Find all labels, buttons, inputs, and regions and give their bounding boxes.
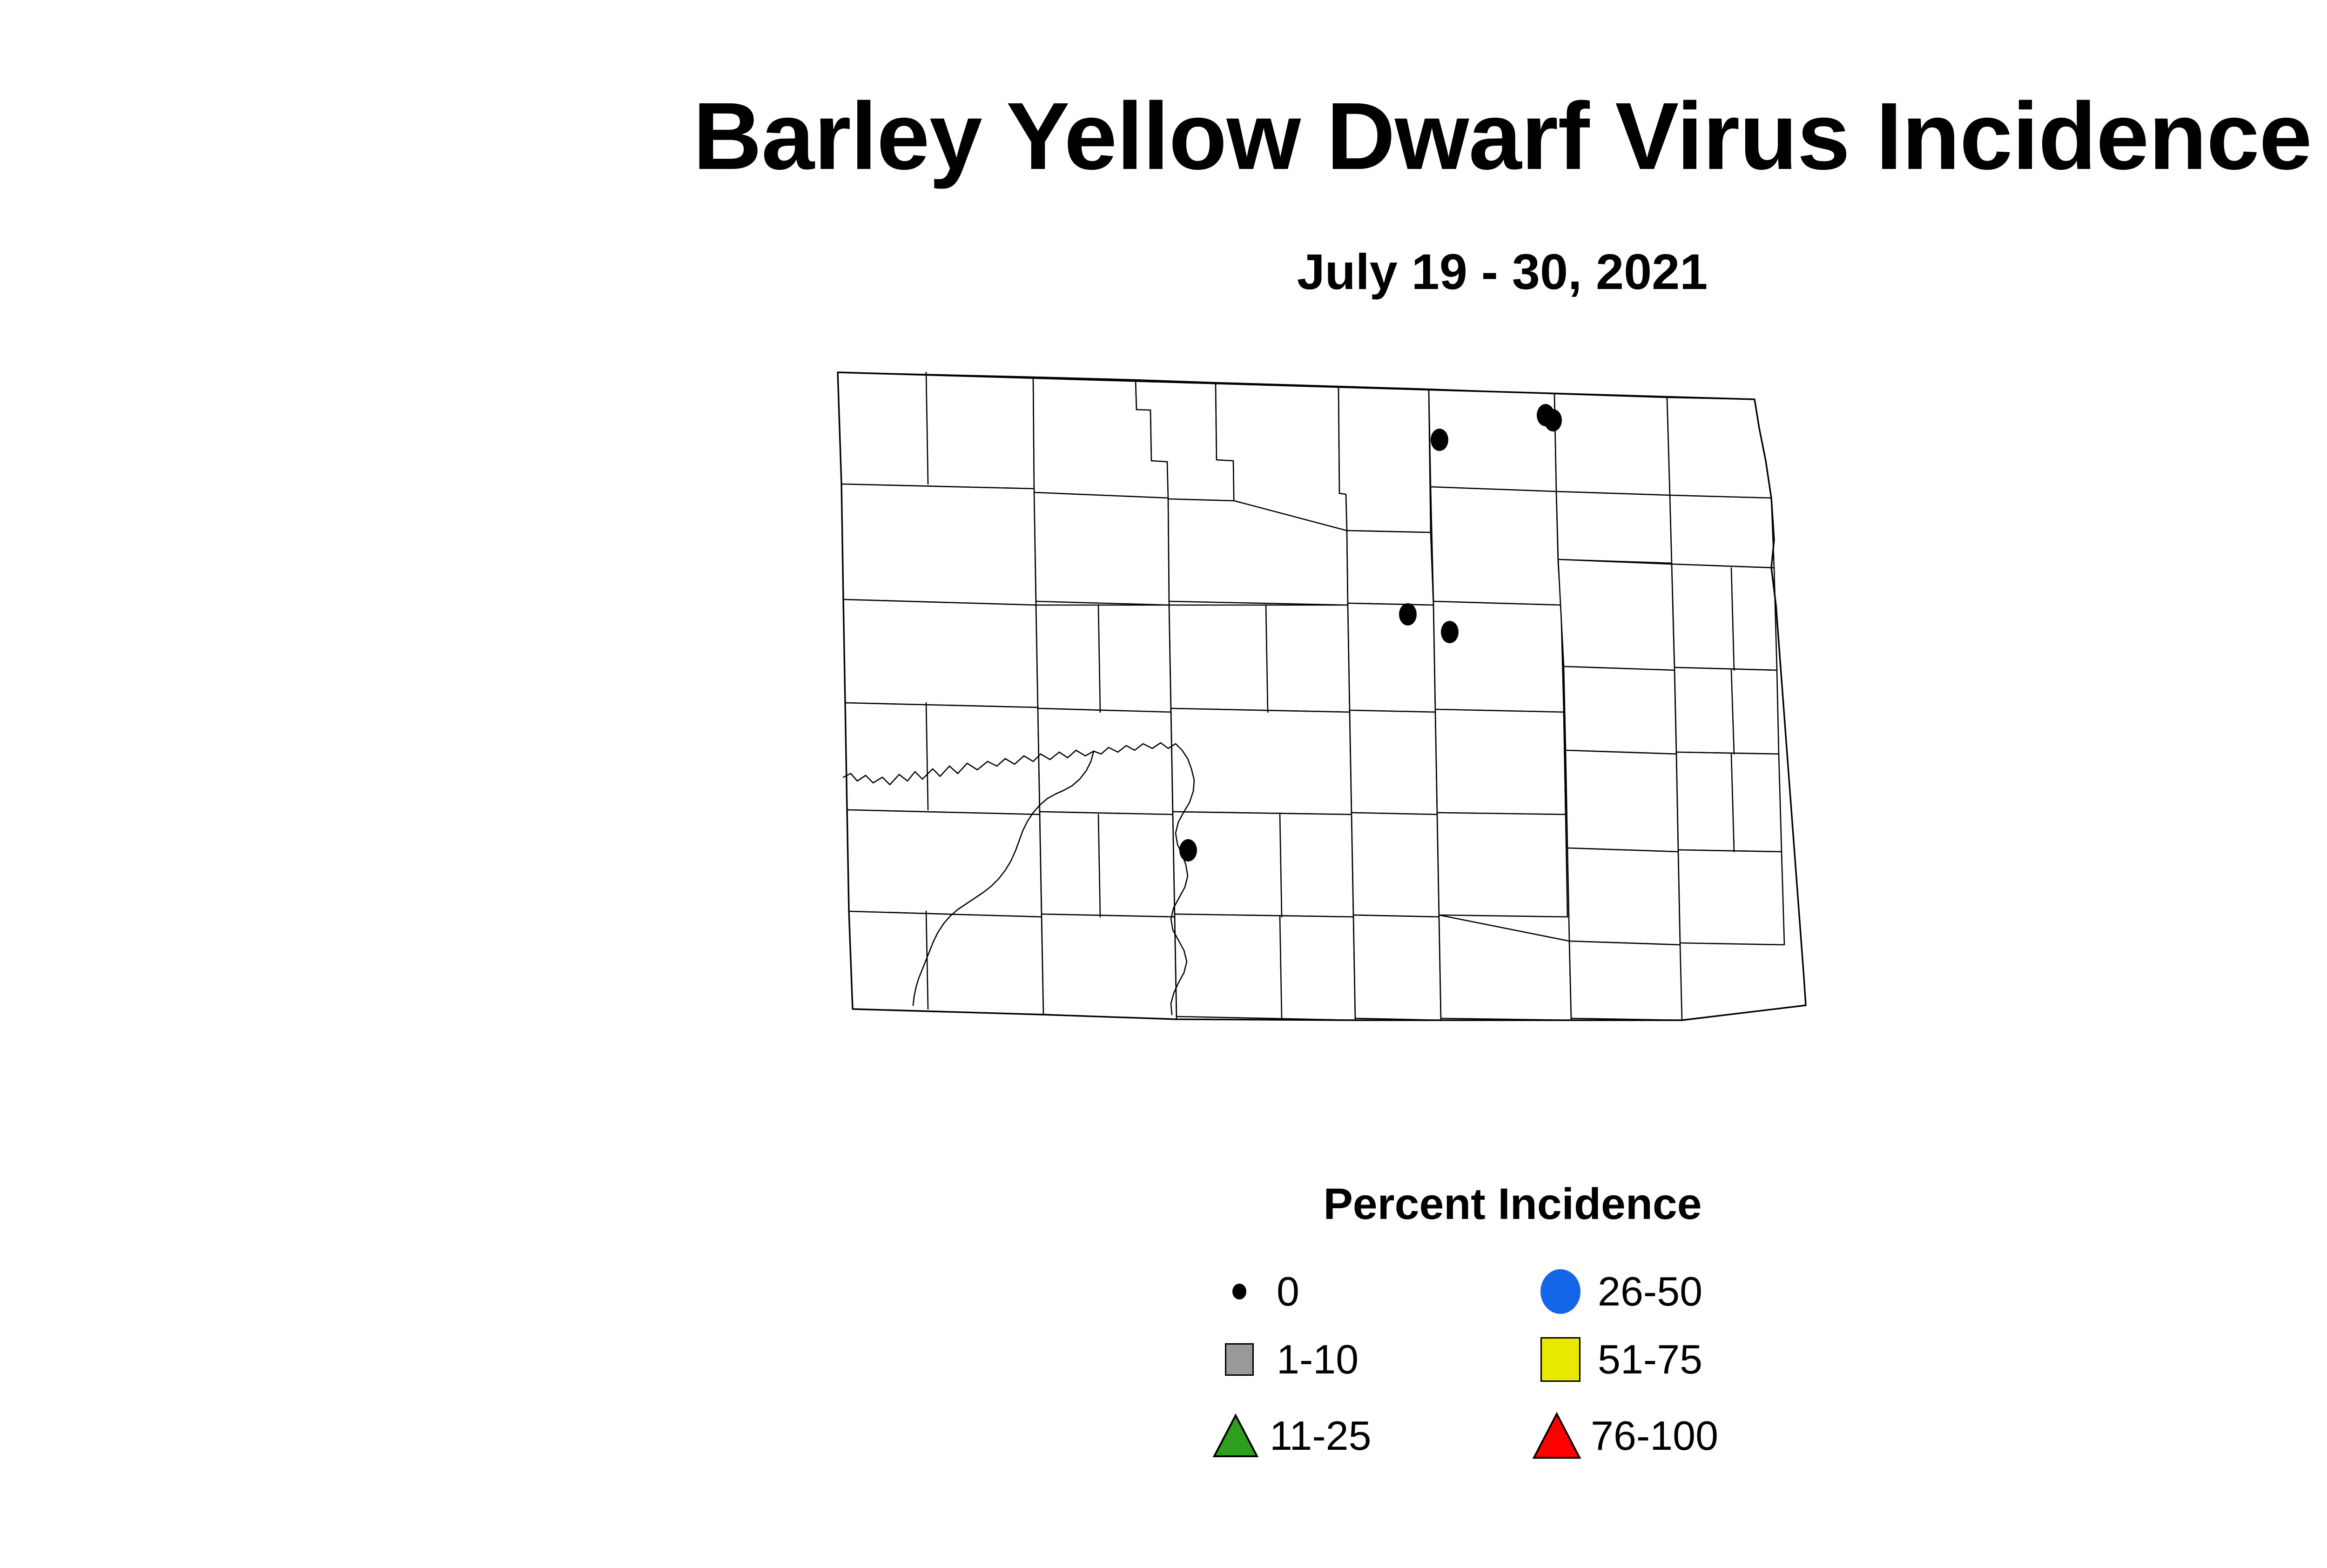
county-billings-n	[845, 703, 1040, 814]
county-ransom	[1567, 848, 1680, 945]
page-title: Barley Yellow Dwarf Virus Incidence	[0, 88, 2327, 184]
county-barnes	[1566, 750, 1678, 852]
legend-item-label: 0	[1277, 1271, 1299, 1312]
north-dakota-map	[773, 344, 2001, 1164]
county-rolette	[1338, 386, 1431, 532]
county-mckenzie-n	[843, 599, 1038, 707]
legend-symbol-small-circle-icon	[1210, 1257, 1268, 1326]
legend-title: Percent Incidence	[1210, 1182, 1815, 1226]
county-hettinger	[1040, 812, 1175, 917]
county-traill	[1675, 667, 1779, 754]
data-point[interactable]	[1441, 621, 1459, 643]
data-point[interactable]	[1431, 429, 1448, 451]
county-ramsey	[1556, 491, 1672, 563]
county-williams	[841, 484, 1036, 605]
county-sheridan	[1348, 603, 1435, 712]
county-grand-forks	[1672, 564, 1777, 670]
legend-item-4[interactable]: 51-75	[1531, 1325, 1702, 1394]
data-point[interactable]	[1179, 839, 1197, 861]
county-dickey	[1439, 915, 1571, 1020]
county-wells	[1433, 601, 1564, 712]
county-golden-valley	[847, 810, 1042, 917]
county-emmons	[1173, 812, 1353, 917]
county-stark-n	[1038, 708, 1173, 814]
county-walsh	[1670, 495, 1774, 568]
county-kidder	[1350, 710, 1437, 814]
data-point[interactable]	[1399, 603, 1417, 626]
legend-item-label: 51-75	[1598, 1339, 1702, 1380]
map-svg	[773, 344, 2001, 1164]
county-sargent	[1569, 941, 1682, 1020]
county-mountrail	[1034, 492, 1169, 605]
county-pembina	[1667, 397, 1771, 498]
legend-item-2[interactable]: 11-25	[1210, 1401, 1372, 1471]
county-cass	[1676, 752, 1782, 852]
legend-item-label: 26-50	[1598, 1271, 1702, 1312]
title-block: Barley Yellow Dwarf Virus Incidence	[0, 88, 2327, 184]
page-subtitle: July 19 - 30, 2021	[0, 247, 2327, 297]
legend-item-1[interactable]: 1-10	[1210, 1325, 1359, 1394]
county-mcintosh	[1353, 915, 1441, 1020]
legend-item-0[interactable]: 0	[1210, 1257, 1299, 1326]
county-pierce	[1431, 487, 1561, 605]
legend-item-label: 11-25	[1270, 1415, 1372, 1456]
figure-root: Barley Yellow Dwarf Virus Incidence July…	[0, 0, 2327, 1568]
legend-symbol-square-icon	[1531, 1325, 1589, 1394]
legend-symbol-triangle-icon	[1531, 1413, 1582, 1459]
legend-item-label: 76-100	[1591, 1415, 1718, 1456]
county-griggs	[1564, 666, 1676, 754]
legend-item-3[interactable]: 26-50	[1531, 1257, 1702, 1326]
legend-symbol-circle-icon	[1531, 1257, 1589, 1326]
county-sioux	[1175, 914, 1355, 1020]
county-adams	[1042, 914, 1177, 1019]
county-mchenry	[1347, 531, 1433, 605]
legend-item-label: 1-10	[1277, 1339, 1359, 1380]
county-divide	[838, 372, 1034, 489]
data-point[interactable]	[1544, 409, 1562, 431]
county-richland	[1678, 850, 1784, 945]
county-mclean-n	[1169, 605, 1350, 712]
legend-symbol-square-icon	[1210, 1325, 1268, 1394]
legend-item-5[interactable]: 76-100	[1531, 1401, 1718, 1471]
county-stutsman	[1435, 709, 1566, 814]
legend: Percent Incidence 0 1-10	[1210, 1182, 1862, 1536]
county-burleigh-n	[1171, 708, 1352, 814]
county-logan	[1352, 813, 1439, 917]
legend-symbol-triangle-icon	[1210, 1413, 1261, 1459]
county-dunn-n	[1036, 605, 1171, 712]
county-bowman	[849, 911, 1043, 1015]
county-nelson	[1558, 559, 1675, 670]
county-lamoure	[1437, 813, 1567, 917]
county-cavalier	[1554, 394, 1670, 495]
county-boundaries	[838, 372, 1784, 1020]
